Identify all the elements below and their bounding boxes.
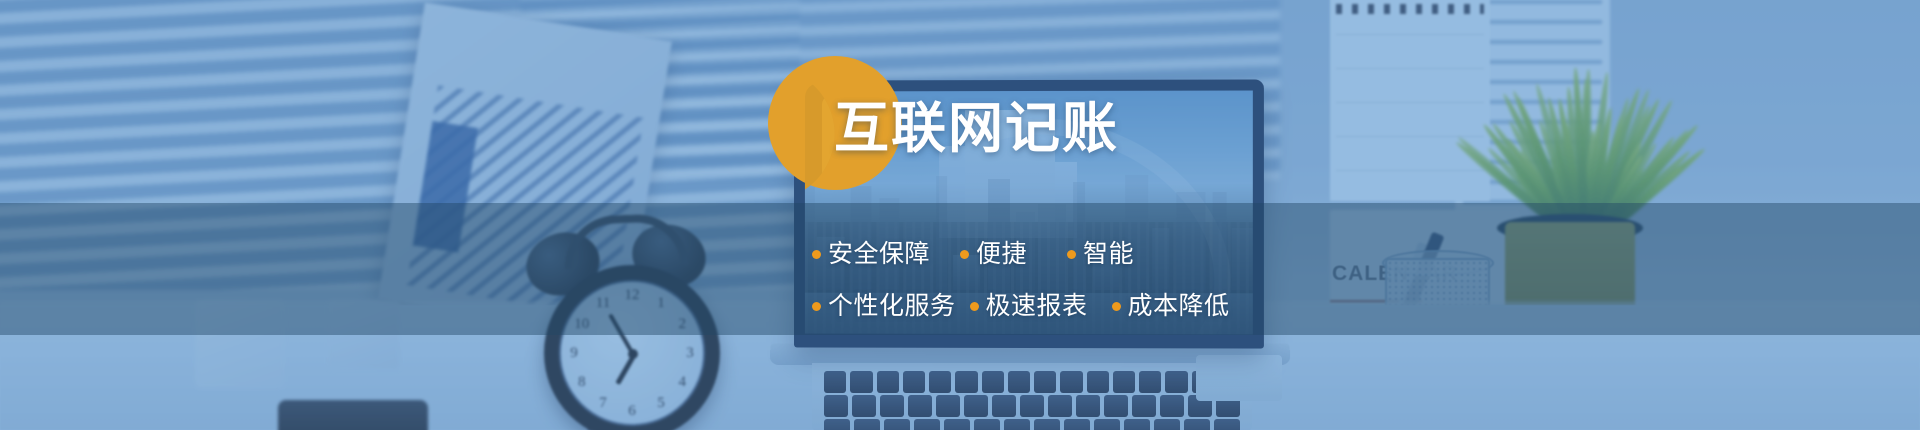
feature-item-cost-reduction[interactable]: 成本降低 (1112, 291, 1230, 321)
feature-item-personalized-service[interactable]: 个性化服务 (812, 291, 956, 321)
feature-label: 安全保障 (828, 239, 930, 269)
bullet-dot-icon (812, 250, 821, 259)
feature-label: 智能 (1083, 239, 1134, 269)
bullet-dot-icon (970, 302, 979, 311)
feature-row-1: 安全保障 便捷 智能 (812, 228, 1282, 280)
feature-label: 成本降低 (1128, 291, 1230, 321)
feature-label: 个性化服务 (828, 291, 956, 321)
feature-item-convenient[interactable]: 便捷 (960, 239, 1027, 269)
bullet-dot-icon (812, 302, 821, 311)
bullet-dot-icon (960, 250, 969, 259)
feature-item-security[interactable]: 安全保障 (812, 239, 930, 269)
bullet-dot-icon (1067, 250, 1076, 259)
feature-row-2: 个性化服务 极速报表 成本降低 (812, 280, 1282, 332)
feature-item-fast-reports[interactable]: 极速报表 (970, 291, 1088, 321)
feature-label: 便捷 (976, 239, 1027, 269)
feature-list: 安全保障 便捷 智能 个性化服务 极速报表 (812, 228, 1282, 332)
page-title: 互联网记账 (834, 95, 1119, 161)
feature-label: 极速报表 (986, 291, 1088, 321)
feature-item-smart[interactable]: 智能 (1067, 239, 1134, 269)
bullet-dot-icon (1112, 302, 1121, 311)
promo-banner: CALENDAR 121234567891011 (0, 0, 1920, 430)
